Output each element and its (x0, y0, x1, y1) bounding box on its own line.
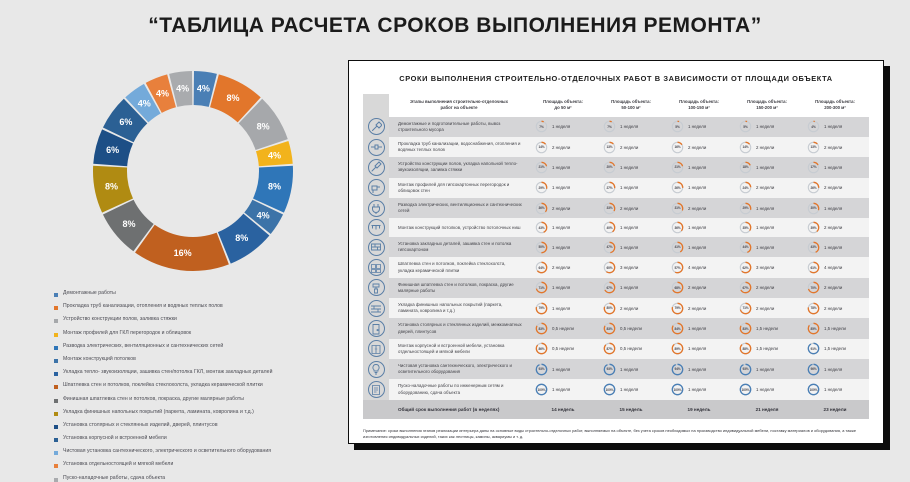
legend-item[interactable]: Укладка тепло- звукоизоляции, зашивка ст… (54, 369, 338, 376)
table-row: Монтаж корпусной и встроенной мебели, ус… (363, 339, 869, 359)
progress-percent: 85% (807, 322, 820, 335)
total-value: 19 недель (665, 400, 733, 419)
progress-ring: 50% (535, 241, 548, 254)
duration-cell-content: 17%1 неделя (801, 158, 869, 177)
task-label: Чистовая установка сантехнического, элек… (389, 359, 529, 379)
trowel-icon (368, 159, 385, 176)
duration-weeks: 1 неделя (688, 387, 706, 392)
legend-item-label: Шпатлевка стен и потолков, поклейка стек… (63, 382, 263, 388)
schedule-table: Этапы выполнения строительно-отделочныхр… (363, 94, 869, 419)
progress-percent: 7% (535, 120, 548, 133)
duration-cell-content: 21%1 неделя (529, 158, 597, 177)
duration-cell: 79%2 недели (665, 298, 733, 318)
progress-ring: 84% (671, 322, 684, 335)
duration-weeks: 2 недели (756, 285, 774, 290)
duration-cell-content: 96%1 неделя (801, 360, 869, 379)
floor-icon (368, 300, 385, 317)
duration-cell-content: 27%1 неделя (597, 178, 665, 197)
progress-ring: 36% (535, 202, 548, 215)
duration-cell-content: 43%1 неделя (801, 238, 869, 257)
duration-cell-content: 67%1 неделя (597, 278, 665, 297)
progress-ring: 27% (603, 181, 616, 194)
progress-percent: 71% (535, 281, 548, 294)
task-label: Монтаж корпусной и встроенной мебели, ус… (389, 339, 529, 359)
legend-item[interactable]: Монтаж конструкций потолков (54, 356, 338, 363)
duration-weeks: 2 недели (756, 185, 774, 190)
legend-bullet-icon (54, 438, 58, 442)
duration-cell-content: 83%0,5 недели (529, 319, 597, 338)
row-icon-cell (363, 237, 389, 257)
progress-percent: 39% (807, 221, 820, 234)
duration-cell: 39%2 недели (801, 218, 869, 237)
progress-percent: 64% (535, 261, 548, 274)
duration-weeks: 2 недели (824, 185, 842, 190)
progress-ring: 62% (739, 261, 752, 274)
progress-percent: 79% (671, 302, 684, 315)
duration-weeks: 0,5 недели (620, 326, 642, 331)
progress-percent: 24% (739, 181, 752, 194)
duration-cell-content: 7%1 неделя (597, 117, 665, 136)
duration-cell: 14%2 недели (733, 137, 801, 157)
task-cell: Монтаж профилей для гипсокартонных перег… (389, 178, 529, 198)
progress-percent: 86% (535, 342, 548, 355)
table-row: Финишная шпатлевка стен и потолков, покр… (363, 278, 869, 298)
duration-weeks: 1 неделя (824, 367, 842, 372)
progress-ring: 36% (671, 221, 684, 234)
duration-cell: 91%1,5 недели (801, 339, 869, 359)
progress-ring: 100% (739, 383, 752, 396)
progress-ring: 94% (671, 363, 684, 376)
row-icon-cell (363, 257, 389, 277)
legend-item-label: Монтаж профилей для ГКЛ перегородок и об… (63, 330, 191, 336)
duration-weeks: 1 неделя (824, 245, 842, 250)
duration-cell: 26%2 недели (801, 178, 869, 198)
hammer-icon (368, 118, 385, 135)
table-head: Этапы выполнения строительно-отделочныхр… (363, 94, 869, 117)
table-header-area-3: Площадь объекта:100-150 м² (665, 94, 733, 117)
duration-cell: 71%1 неделя (529, 278, 597, 298)
table-row: Монтаж конструкций потолков, устройство … (363, 218, 869, 237)
progress-percent: 36% (535, 202, 548, 215)
progress-ring: 41% (671, 241, 684, 254)
row-icon-cell (363, 318, 389, 338)
progress-percent: 67% (603, 281, 616, 294)
legend-bullet-icon (54, 293, 58, 297)
table-row: Укладка финишных напольных покрытий (пар… (363, 298, 869, 318)
duration-cell: 68%2 недели (665, 278, 733, 298)
duration-cell: 41%1 неделя (665, 237, 733, 257)
duration-cell-content: 79%1 неделя (529, 299, 597, 318)
progress-percent: 40% (603, 221, 616, 234)
duration-weeks: 1 неделя (688, 225, 706, 230)
progress-ring: 21% (535, 161, 548, 174)
duration-cell: 67%2 недели (733, 278, 801, 298)
progress-percent: 62% (739, 261, 752, 274)
duration-cell: 44%1 неделя (733, 237, 801, 257)
progress-ring: 33% (603, 202, 616, 215)
duration-cell: 4%1 неделя (801, 117, 869, 137)
table-total-row: Общий срок выполнения работ (в неделях)1… (363, 400, 869, 419)
progress-ring: 100% (807, 383, 820, 396)
header-line-2: до 50 м² (531, 105, 595, 111)
duration-cell-content: 13%2 недели (801, 138, 869, 157)
duration-weeks: 0,5 недели (620, 346, 642, 351)
progress-percent: 13% (807, 141, 820, 154)
duration-cell-content: 87%0,5 недели (597, 339, 665, 358)
duration-cell-content: 84%1 неделя (665, 319, 733, 338)
duration-cell-content: 80%2 недели (597, 299, 665, 318)
duration-cell-content: 100%1 неделя (665, 380, 733, 399)
legend-item[interactable]: Установка корпусной и встроенной мебели (54, 435, 338, 442)
legend-item-label: Укладка тепло- звукоизоляции, зашивка ст… (63, 369, 272, 375)
duration-cell-content: 93%1 неделя (529, 360, 597, 379)
duration-weeks: 2 недели (620, 306, 638, 311)
duration-cell-content: 21%1 неделя (665, 158, 733, 177)
progress-percent: 78% (807, 302, 820, 315)
duration-cell: 31%2 недели (665, 198, 733, 218)
duration-cell-content: 70%2 недели (801, 278, 869, 297)
duration-weeks: 2 недели (824, 285, 842, 290)
duration-weeks: 2 недели (756, 306, 774, 311)
donut-slice-label: 8% (268, 181, 281, 191)
progress-ring: 93% (603, 363, 616, 376)
legend-item[interactable]: Укладка финишных напольных покрытий (пар… (54, 409, 338, 416)
progress-ring: 83% (739, 322, 752, 335)
progress-ring: 57% (671, 261, 684, 274)
duration-weeks: 1 неделя (552, 285, 570, 290)
progress-percent: 17% (807, 161, 820, 174)
total-label-cell: Общий срок выполнения работ (в неделях) (389, 400, 529, 419)
duration-cell: 88%1,5 недели (733, 339, 801, 359)
legend-bullet-icon (54, 346, 58, 350)
duration-cell: 93%1 неделя (597, 359, 665, 379)
duration-cell: 7%1 неделя (529, 117, 597, 137)
duration-weeks: 3 недели (756, 265, 774, 270)
progress-ring: 5% (739, 120, 752, 133)
door-icon (368, 320, 385, 337)
progress-ring: 35% (739, 221, 752, 234)
legend-item[interactable]: Устройство конструкции полов, заливка ст… (54, 316, 338, 323)
progress-ring: 13% (807, 141, 820, 154)
duration-cell-content: 14%2 недели (529, 138, 597, 157)
duration-cell-content: 31%2 недели (665, 199, 733, 218)
duration-cell: 83%0,5 недели (529, 318, 597, 338)
progress-ring: 87% (603, 342, 616, 355)
duration-cell-content: 64%2 недели (529, 258, 597, 277)
progress-percent: 4% (807, 120, 820, 133)
progress-ring: 85% (807, 322, 820, 335)
duration-cell-content: 39%2 недели (801, 218, 869, 237)
progress-ring: 5% (671, 120, 684, 133)
row-icon-cell (363, 278, 389, 298)
duration-cell: 67%1 неделя (597, 278, 665, 298)
legend-item[interactable]: Разводка электрических, вентиляционных и… (54, 343, 338, 350)
duration-weeks: 2 недели (552, 265, 570, 270)
page-title: “ТАБЛИЦА РАСЧЕТА СРОКОВ ВЫПОЛНЕНИЯ РЕМОН… (0, 14, 910, 38)
duration-cell: 20%1 неделя (597, 157, 665, 177)
duration-cell-content: 100%1 неделя (597, 380, 665, 399)
duration-weeks: 1 неделя (688, 326, 706, 331)
task-label: Финишная шпатлевка стен и потолков, покр… (389, 278, 529, 298)
total-value: 23 недели (801, 400, 869, 419)
duration-weeks: 1 неделя (552, 165, 570, 170)
duration-weeks: 2 недели (552, 206, 570, 211)
duration-cell: 94%1 неделя (665, 359, 733, 379)
duration-weeks: 2 недели (620, 206, 638, 211)
duration-weeks: 1 неделя (620, 124, 638, 129)
duration-cell: 7%1 неделя (597, 117, 665, 137)
duration-cell-content: 85%1,5 недели (801, 319, 869, 338)
duration-cell-content: 100%1 неделя (733, 380, 801, 399)
duration-weeks: 1 неделя (620, 225, 638, 230)
duration-cell-content: 62%3 недели (733, 258, 801, 277)
duration-cell: 83%0,5 недели (597, 318, 665, 338)
table-body: Демонтажные и подготовительные работы, в… (363, 117, 869, 419)
donut-slice-label: 4% (197, 84, 210, 94)
duration-weeks: 2 недели (620, 145, 638, 150)
duration-cell: 100%1 неделя (733, 379, 801, 399)
legend-item[interactable]: Прокладка труб канализации, отопления и … (54, 303, 338, 310)
progress-percent: 16% (671, 141, 684, 154)
legend-item-label: Прокладка труб канализации, отопления и … (63, 303, 223, 309)
duration-cell: 18%1 неделя (733, 157, 801, 177)
progress-percent: 21% (535, 161, 548, 174)
progress-ring: 21% (671, 161, 684, 174)
duration-cell: 29%1 неделя (529, 178, 597, 198)
progress-percent: 94% (671, 363, 684, 376)
total-value: 15 недель (597, 400, 665, 419)
duration-weeks: 1,5 недели (756, 326, 778, 331)
duration-weeks: 1 неделя (756, 367, 774, 372)
progress-ring: 4% (807, 120, 820, 133)
duration-cell-content: 57%4 недели (665, 258, 733, 277)
duration-weeks: 1 неделя (756, 387, 774, 392)
duration-weeks: 2 недели (824, 145, 842, 150)
progress-percent: 100% (739, 383, 752, 396)
progress-percent: 93% (535, 363, 548, 376)
table-row: Пуско-наладочные работы по инженерным се… (363, 379, 869, 399)
progress-ring: 79% (671, 302, 684, 315)
duration-cell: 96%1 неделя (801, 359, 869, 379)
duration-cell: 29%1 неделя (733, 198, 801, 218)
duration-cell: 35%1 неделя (733, 218, 801, 237)
duration-cell: 100%1 неделя (801, 379, 869, 399)
row-icon-cell (363, 117, 389, 137)
donut-slice-label: 8% (105, 181, 118, 191)
tile-icon (368, 259, 385, 276)
task-label: Установка столярных и стеклянных изделий… (389, 318, 529, 338)
duration-weeks: 1 неделя (552, 185, 570, 190)
progress-ring: 78% (807, 302, 820, 315)
donut-slice-label: 4% (156, 89, 169, 99)
progress-percent: 18% (739, 161, 752, 174)
legend-item[interactable]: Шпатлевка стен и потолков, поклейка стек… (54, 382, 338, 389)
duration-cell: 84%1 неделя (665, 318, 733, 338)
duration-cell: 30%1 неделя (801, 198, 869, 218)
row-icon-cell (363, 178, 389, 198)
task-label: Установка закладных деталей, зашивка сте… (389, 237, 529, 257)
progress-percent: 30% (807, 202, 820, 215)
legend-item[interactable]: Установка столярных и стеклянных изделий… (54, 422, 338, 429)
table-header-area-5: Площадь объекта:200-300 м² (801, 94, 869, 117)
paint-icon (368, 279, 385, 296)
duration-cell: 93%1 неделя (529, 359, 597, 379)
donut-slice-label: 8% (235, 233, 248, 243)
duration-cell: 21%1 неделя (665, 157, 733, 177)
duration-weeks: 1 неделя (824, 387, 842, 392)
progress-percent: 44% (739, 241, 752, 254)
legend-item-label: Устройство конструкции полов, заливка ст… (63, 316, 177, 322)
task-label: Прокладка труб канализации, водоснабжени… (389, 137, 529, 157)
table-header-area-2: Площадь объекта:50-100 м² (597, 94, 665, 117)
progress-percent: 21% (671, 161, 684, 174)
duration-cell-content: 35%1 неделя (733, 218, 801, 237)
task-label: Монтаж конструкций потолков, устройство … (389, 221, 529, 235)
total-label: Общий срок выполнения работ (в неделях) (389, 400, 529, 419)
progress-ring: 14% (535, 141, 548, 154)
progress-percent: 91% (807, 342, 820, 355)
duration-cell-content: 33%2 недели (597, 199, 665, 218)
table-row: Шпатлевка стен и потолков, поклейка стек… (363, 257, 869, 277)
progress-ring: 89% (671, 342, 684, 355)
progress-percent: 5% (671, 120, 684, 133)
legend-bullet-icon (54, 333, 58, 337)
progress-percent: 96% (807, 363, 820, 376)
table-row: Монтаж профилей для гипсокартонных перег… (363, 178, 869, 198)
duration-weeks: 1 неделя (688, 346, 706, 351)
progress-percent: 60% (603, 261, 616, 274)
header-line-2: 50-100 м² (599, 105, 663, 111)
task-cell: Установка столярных и стеклянных изделий… (389, 318, 529, 338)
progress-ring: 64% (535, 261, 548, 274)
legend-item-label: Разводка электрических, вентиляционных и… (63, 343, 223, 349)
duration-cell-content: 30%1 неделя (801, 199, 869, 218)
duration-cell-content: 93%1 неделя (597, 360, 665, 379)
table-card: СРОКИ ВЫПОЛНЕНИЯ СТРОИТЕЛЬНО-ОТДЕЛОЧНЫХ … (348, 60, 884, 444)
duration-cell: 14%2 недели (529, 137, 597, 157)
legend-item[interactable]: Пуско-наладочные работы, сдача объекта (54, 475, 338, 482)
legend-bullet-icon (54, 478, 58, 482)
duration-weeks: 1 неделя (620, 285, 638, 290)
progress-ring: 40% (603, 221, 616, 234)
donut-slice-label: 8% (226, 93, 239, 103)
row-icon-cell (363, 298, 389, 318)
duration-cell-content: 67%2 недели (733, 278, 801, 297)
progress-percent: 100% (807, 383, 820, 396)
donut-slice-label: 4% (268, 150, 281, 160)
progress-ring: 26% (671, 181, 684, 194)
donut-slice-label: 4% (257, 210, 270, 220)
header-line-2: 200-300 м² (803, 105, 867, 111)
progress-ring: 14% (739, 141, 752, 154)
duration-weeks: 1 неделя (552, 245, 570, 250)
duration-weeks: 2 недели (688, 306, 706, 311)
table-header-icon-col (363, 94, 389, 117)
legend-item[interactable]: Финишная шпатлевка стен и потолков, покр… (54, 396, 338, 403)
progress-ring: 29% (535, 181, 548, 194)
progress-percent: 71% (739, 302, 752, 315)
legend-item[interactable]: Демонтажные работы (54, 290, 338, 297)
task-cell: Финишная шпатлевка стен и потолков, покр… (389, 278, 529, 298)
duration-cell-content: 68%2 недели (665, 278, 733, 297)
progress-ring: 60% (603, 261, 616, 274)
progress-percent: 67% (739, 281, 752, 294)
duration-cell: 50%1 неделя (529, 237, 597, 257)
legend-item[interactable]: Чистовая установка сантехнического, элек… (54, 448, 338, 455)
donut-slice-label: 8% (123, 219, 136, 229)
duration-weeks: 4 недели (824, 265, 842, 270)
duration-cell: 21%1 неделя (529, 157, 597, 177)
plug-icon (368, 200, 385, 217)
progress-percent: 100% (603, 383, 616, 396)
duration-cell: 100%1 неделя (597, 379, 665, 399)
duration-cell-content: 100%1 неделя (801, 380, 869, 399)
progress-percent: 80% (603, 302, 616, 315)
donut-slice-label: 8% (257, 121, 270, 131)
duration-cell: 64%2 недели (529, 257, 597, 277)
progress-percent: 27% (603, 181, 616, 194)
legend-item[interactable]: Установка отдельностоящей и мягкой мебел… (54, 461, 338, 468)
duration-cell: 16%2 недели (665, 137, 733, 157)
duration-weeks: 1 неделя (756, 124, 774, 129)
table-header-area-1: Площадь объекта:до 50 м² (529, 94, 597, 117)
duration-cell-content: 4%1 неделя (801, 117, 869, 136)
duration-cell: 87%0,5 недели (597, 339, 665, 359)
duration-cell: 13%2 недели (801, 137, 869, 157)
progress-percent: 14% (535, 141, 548, 154)
duration-cell-content: 13%2 недели (597, 138, 665, 157)
duration-weeks: 1 неделя (824, 206, 842, 211)
donut-chart: 4%8%8%4%8%4%8%16%8%8%6%6%4%4%4% (88, 66, 298, 276)
legend-item-label: Финишная шпатлевка стен и потолков, покр… (63, 396, 244, 402)
progress-ring: 20% (603, 161, 616, 174)
task-cell: Устройство конструкции полов, укладка на… (389, 157, 529, 177)
duration-cell: 36%2 недели (529, 198, 597, 218)
duration-cell-content: 71%1 неделя (529, 278, 597, 297)
progress-ring: 91% (807, 342, 820, 355)
duration-cell: 5%1 неделя (665, 117, 733, 137)
duration-weeks: 2 недели (688, 145, 706, 150)
duration-cell-content: 79%2 недели (665, 299, 733, 318)
duration-cell-content: 5%1 неделя (665, 117, 733, 136)
duration-cell: 70%2 недели (801, 278, 869, 298)
progress-ring: 47% (603, 241, 616, 254)
duration-weeks: 2 недели (552, 145, 570, 150)
legend-bullet-icon (54, 306, 58, 310)
progress-ring: 96% (807, 363, 820, 376)
donut-slice-label: 6% (119, 117, 132, 127)
duration-weeks: 1 неделя (552, 225, 570, 230)
duration-weeks: 1 неделя (756, 206, 774, 211)
progress-percent: 84% (671, 322, 684, 335)
progress-percent: 36% (671, 221, 684, 234)
progress-percent: 7% (603, 120, 616, 133)
legend-item-label: Монтаж конструкций потолков (63, 356, 136, 362)
table-row: Прокладка труб канализации, водоснабжени… (363, 137, 869, 157)
legend-item-label: Демонтажные работы (63, 290, 116, 296)
row-icon-cell (363, 137, 389, 157)
duration-cell-content: 43%1 неделя (529, 218, 597, 237)
duration-weeks: 2 недели (824, 306, 842, 311)
legend-item-label: Пуско-наладочные работы, сдача объекта (63, 475, 165, 481)
progress-percent: 13% (603, 141, 616, 154)
task-cell: Разводка электрических, вентиляционных и… (389, 198, 529, 218)
duration-weeks: 1 неделя (688, 124, 706, 129)
legend-item[interactable]: Монтаж профилей для ГКЛ перегородок и об… (54, 330, 338, 337)
progress-percent: 100% (671, 383, 684, 396)
progress-percent: 93% (603, 363, 616, 376)
duration-cell-content: 93%1 неделя (733, 360, 801, 379)
